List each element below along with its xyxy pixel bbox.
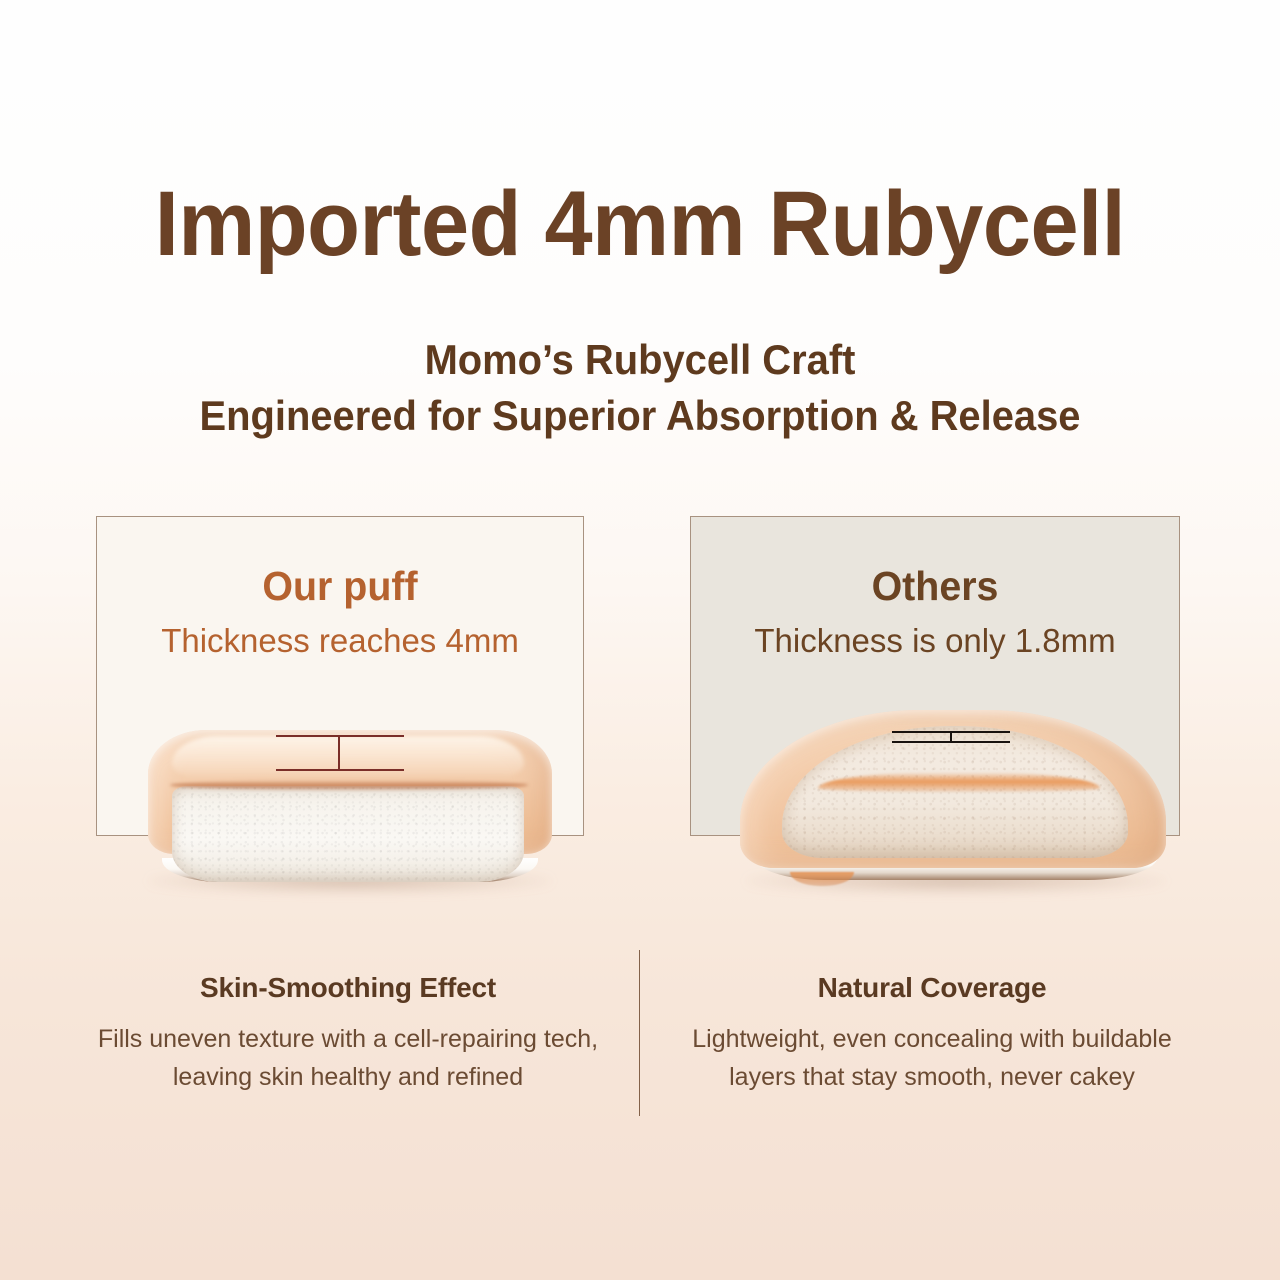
page-title: Imported 4mm Rubycell [38, 176, 1241, 273]
panel-heading-others: Others [701, 563, 1169, 610]
comparison-panel-our-puff: Our puff Thickness reaches 4mm [96, 516, 584, 836]
thickness-marker-others [892, 731, 1010, 743]
comparison-panel-others: Others Thickness is only 1.8mm [690, 516, 1180, 836]
puff-shadow [746, 868, 1166, 894]
puff-base-edge [162, 858, 538, 882]
feature-description: Lightweight, even concealing with builda… [656, 1020, 1208, 1096]
marker-stem [338, 735, 340, 771]
marker-bottom-rule [276, 769, 404, 771]
thickness-marker-our-puff [276, 735, 404, 771]
subtitle-line-2: Engineered for Superior Absorption & Rel… [32, 388, 1248, 444]
marker-top-rule [276, 735, 404, 737]
feature-title: Skin-Smoothing Effect [72, 972, 624, 1004]
puff-base-accent [790, 872, 854, 886]
panel-subheading-our-puff: Thickness reaches 4mm [97, 622, 583, 660]
puff-base-edge [754, 854, 1158, 880]
feature-natural-coverage: Natural Coverage Lightweight, even conce… [656, 972, 1208, 1096]
panel-subheading-others: Thickness is only 1.8mm [691, 622, 1179, 660]
feature-column-divider [639, 950, 640, 1116]
panel-heading-our-puff: Our puff [107, 563, 574, 610]
page-subtitle: Momo’s Rubycell Craft Engineered for Sup… [32, 332, 1248, 444]
feature-description: Fills uneven texture with a cell-repairi… [72, 1020, 624, 1096]
subtitle-line-1: Momo’s Rubycell Craft [425, 336, 856, 383]
feature-title: Natural Coverage [656, 972, 1208, 1004]
marker-bottom-rule [892, 741, 1010, 743]
feature-skin-smoothing-effect: Skin-Smoothing Effect Fills uneven textu… [72, 972, 624, 1096]
puff-shadow [148, 868, 551, 894]
